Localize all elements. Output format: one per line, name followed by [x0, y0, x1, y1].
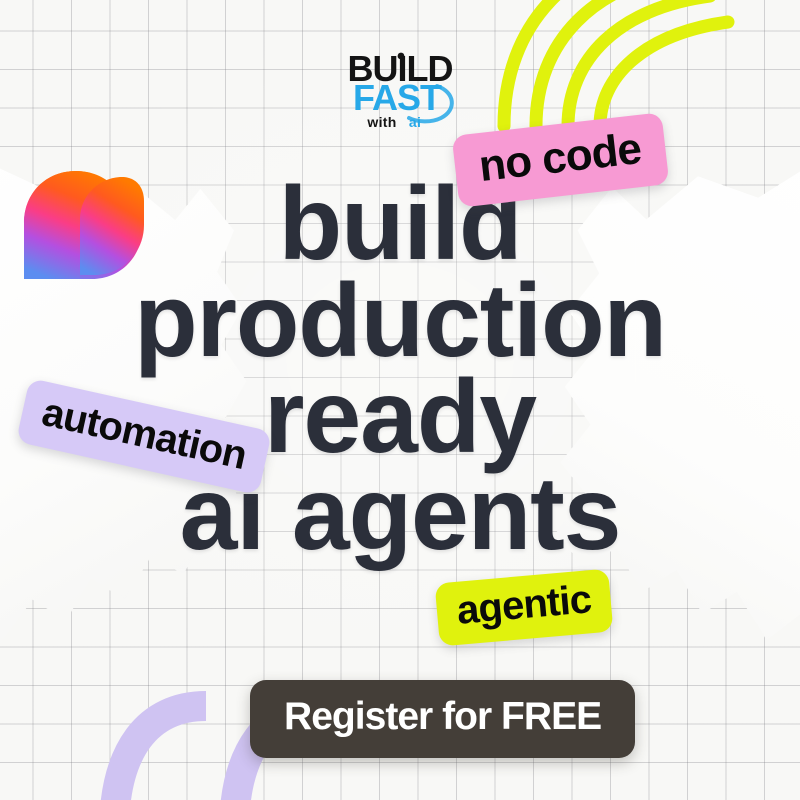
headline-line-4: ai agents	[0, 466, 800, 563]
svg-text:ai: ai	[409, 114, 421, 130]
svg-text:FAST: FAST	[353, 77, 442, 118]
headline-line-1: build	[0, 176, 800, 273]
brand-logo-icon: BUILD FAST with ai	[305, 48, 495, 130]
headline-line-2: production	[0, 273, 800, 370]
page-headline: build production ready ai agents	[0, 176, 800, 563]
register-for-free-button[interactable]: Register for FREE	[250, 680, 635, 758]
brand-logo: BUILD FAST with ai	[0, 48, 800, 130]
svg-text:with: with	[366, 114, 396, 130]
poster-canvas: BUILD FAST with ai build production read…	[0, 0, 800, 800]
